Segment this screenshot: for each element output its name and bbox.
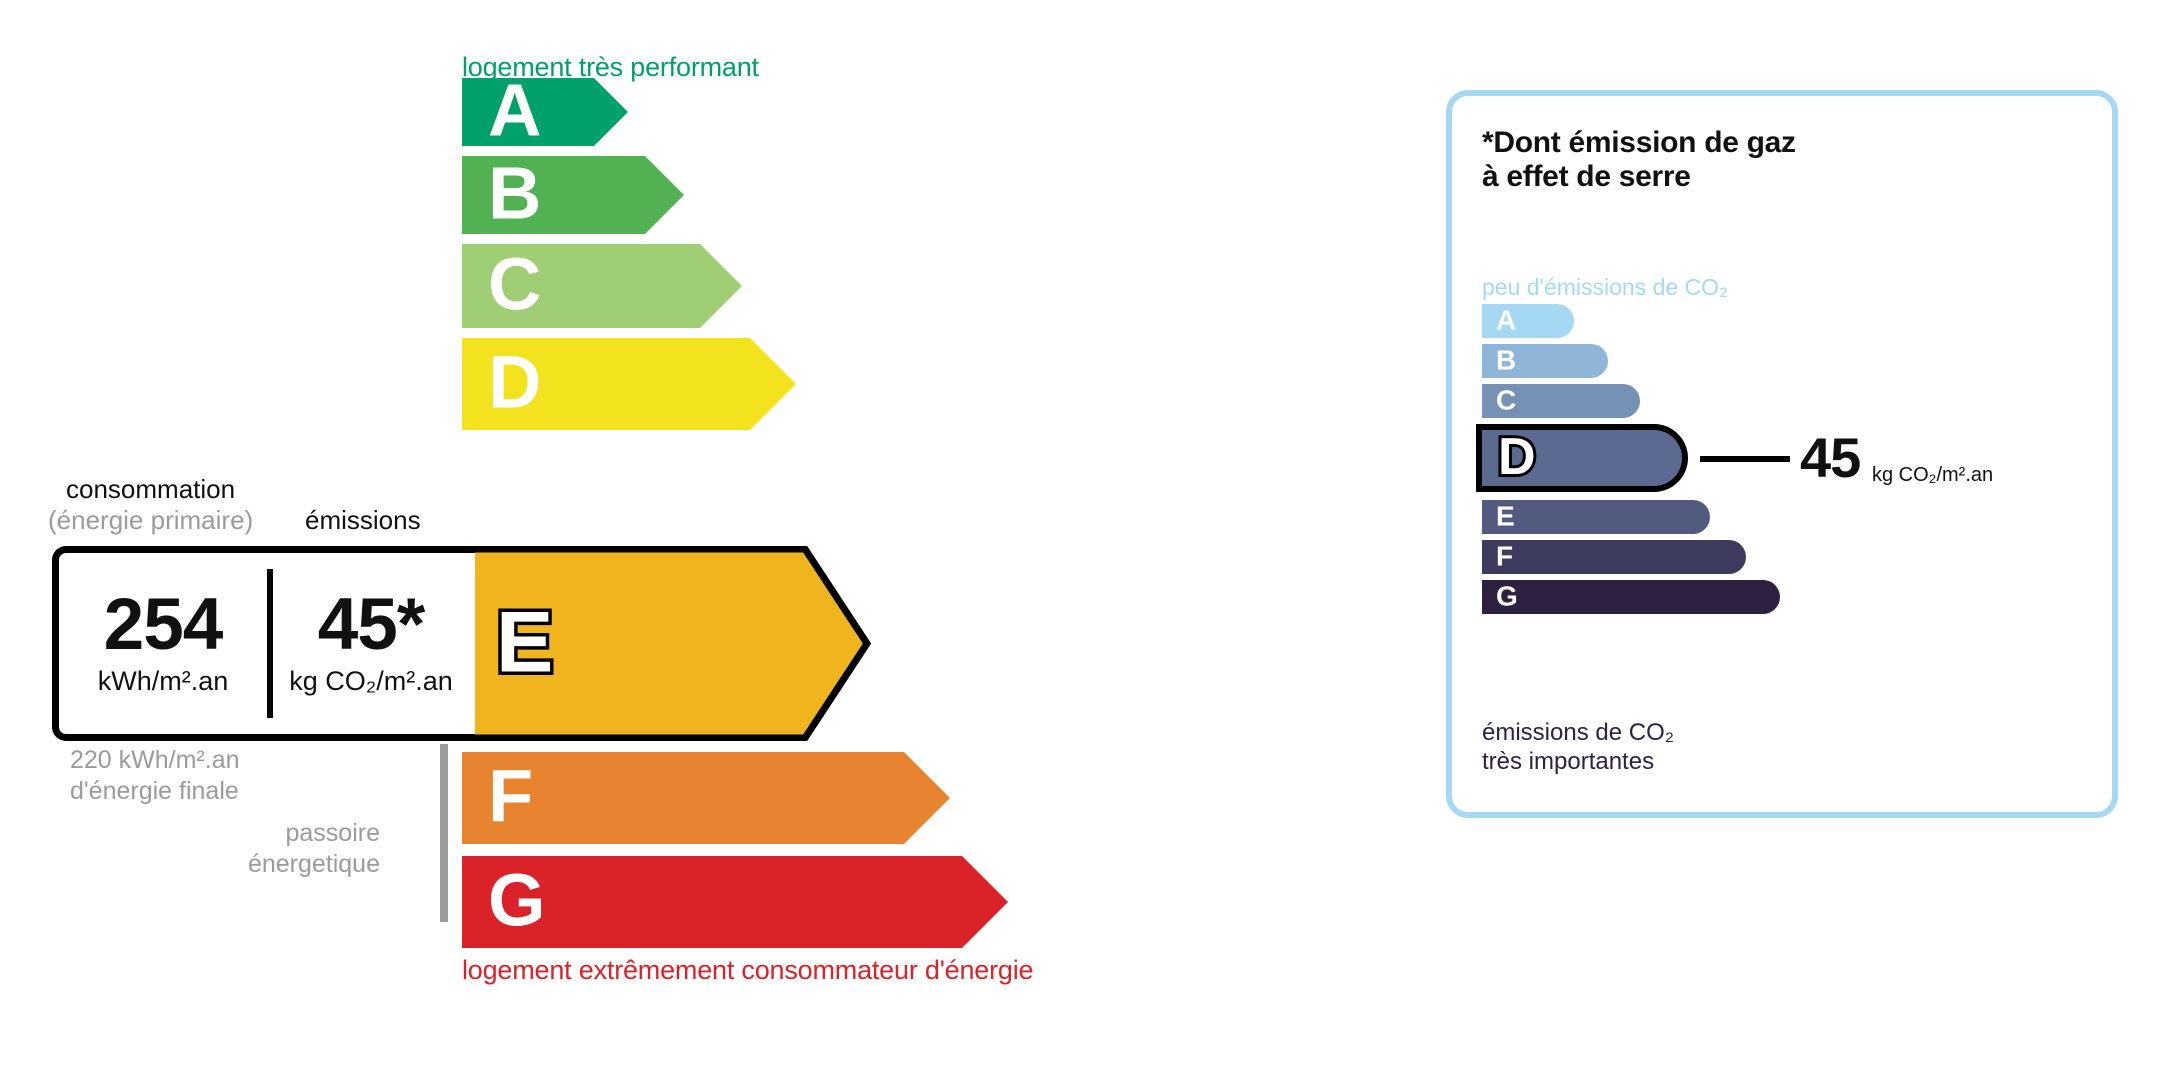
energy-band-d: D: [462, 338, 796, 430]
co2-panel-title: *Dont émission de gaz à effet de serre: [1482, 126, 1796, 194]
energy-band-f: F: [462, 752, 950, 844]
co2-bar-g-shape: [1482, 580, 1780, 614]
co2-letter-b: B: [1496, 346, 1516, 374]
co2-bar-list: A B C D 45 kg CO₂/m².an E: [1482, 304, 1780, 620]
co2-panel: *Dont émission de gaz à effet de serre p…: [1446, 90, 2118, 818]
passoire-bracket-bar: [440, 744, 448, 922]
band-c-letter: C: [488, 248, 541, 322]
energie-finale-note: 220 kWh/m².an d'énergie finale: [70, 745, 240, 807]
passoire-line2: énergetique: [150, 849, 380, 880]
co2-title-line2: à effet de serre: [1482, 160, 1796, 194]
co2-letter-e: E: [1496, 502, 1515, 530]
band-d-letter: D: [488, 346, 541, 420]
band-b-letter: B: [488, 157, 541, 231]
energy-band-c: C: [462, 244, 742, 328]
band-g-letter: G: [488, 864, 546, 938]
band-a-arrow-shape: [462, 78, 628, 146]
emissions-reading: 45* kg CO₂/m².an: [267, 553, 475, 734]
co2-letter-a: A: [1496, 306, 1516, 334]
co2-callout-unit: kg CO₂/m².an: [1872, 464, 1993, 487]
co2-letter-d: D: [1498, 431, 1536, 483]
co2-bar-f-shape: [1482, 540, 1746, 574]
band-f-arrow-shape: [462, 752, 950, 844]
band-f-letter: F: [488, 760, 533, 834]
readings-box: 254 kWh/m².an 45* kg CO₂/m².an: [52, 546, 475, 741]
energy-band-g: G: [462, 856, 1008, 948]
co2-letter-g: G: [1496, 582, 1518, 610]
energy-band-e-highlighted: E: [462, 546, 872, 741]
co2-row-f: F: [1482, 540, 1780, 574]
co2-row-g: G: [1482, 580, 1780, 614]
co2-bar-e-shape: [1482, 500, 1710, 534]
co2-callout-value: 45: [1800, 430, 1860, 486]
dpe-energy-label: logement très performant A B: [0, 0, 2169, 1079]
energie-finale-line2: d'énergie finale: [70, 776, 240, 807]
energie-finale-line1: 220 kWh/m².an: [70, 745, 240, 776]
energy-band-a: A: [462, 78, 628, 146]
energie-primaire-label: (énergie primaire): [48, 505, 253, 536]
passoire-line1: passoire: [150, 818, 380, 849]
emissions-value: 45*: [318, 590, 425, 659]
co2-row-e: E: [1482, 500, 1780, 534]
energy-bottom-caption: logement extrêmement consommateur d'éner…: [462, 955, 1033, 986]
emissions-label: émissions: [305, 505, 421, 536]
co2-row-d-highlighted: D 45 kg CO₂/m².an: [1482, 424, 1780, 492]
consommation-unit: kWh/m².an: [98, 666, 229, 697]
passoire-energetique-note: passoire énergetique: [150, 818, 380, 880]
energy-scale-panel: logement très performant A B: [0, 0, 1300, 1079]
co2-bottom-line1: émissions de CO₂: [1482, 718, 1674, 747]
co2-top-caption: peu d'émissions de CO₂: [1482, 274, 1728, 301]
co2-bottom-caption: émissions de CO₂ très importantes: [1482, 718, 1674, 777]
band-a-letter: A: [488, 74, 541, 148]
co2-letter-c: C: [1496, 386, 1516, 414]
co2-callout-leader-line: [1700, 456, 1790, 462]
consommation-value: 254: [104, 590, 223, 659]
co2-bottom-line2: très importantes: [1482, 747, 1674, 776]
band-e-letter: E: [496, 599, 553, 685]
co2-letter-f: F: [1496, 542, 1513, 570]
co2-row-c: C: [1482, 384, 1780, 418]
consommation-label: consommation: [66, 474, 235, 505]
consommation-reading: 254 kWh/m².an: [59, 553, 267, 734]
co2-row-a: A: [1482, 304, 1780, 338]
emissions-unit: kg CO₂/m².an: [289, 666, 453, 697]
energy-band-b: B: [462, 156, 684, 234]
co2-title-line1: *Dont émission de gaz: [1482, 126, 1796, 160]
co2-row-b: B: [1482, 344, 1780, 378]
